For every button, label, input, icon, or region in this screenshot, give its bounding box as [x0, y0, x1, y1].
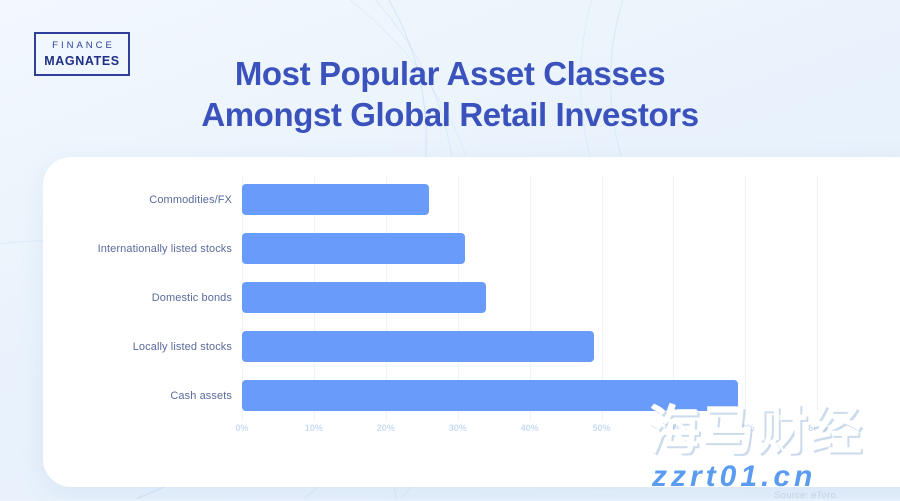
category-label: Domestic bonds	[152, 292, 232, 304]
category-label: Locally listed stocks	[133, 341, 232, 353]
bar-row: Commodities/FX	[242, 175, 882, 224]
x-tick-label: 30%	[449, 423, 467, 433]
category-label: Internationally listed stocks	[98, 243, 232, 255]
watermark-chinese: 海马财经	[648, 406, 864, 458]
page-title-line-2: Amongst Global Retail Investors	[0, 94, 900, 135]
bar[interactable]	[242, 331, 594, 362]
plot-area: Commodities/FXInternationally listed sto…	[242, 175, 882, 420]
category-label: Commodities/FX	[149, 194, 232, 206]
bar-row: Locally listed stocks	[242, 322, 882, 371]
x-tick-label: 40%	[521, 423, 539, 433]
bar-row: Domestic bonds	[242, 273, 882, 322]
bar[interactable]	[242, 184, 429, 215]
bar[interactable]	[242, 233, 465, 264]
watermark-url: zzrt01.cn	[652, 462, 816, 492]
x-tick-label: 0%	[235, 423, 248, 433]
bar[interactable]	[242, 282, 486, 313]
page-title-line-1: Most Popular Asset Classes	[235, 55, 665, 92]
bar-row: Internationally listed stocks	[242, 224, 882, 273]
page-title: Most Popular Asset Classes Amongst Globa…	[0, 53, 900, 135]
x-tick-label: 50%	[593, 423, 611, 433]
x-tick-label: 10%	[305, 423, 323, 433]
logo-line-finance: FINANCE	[49, 41, 115, 51]
category-label: Cash assets	[170, 390, 232, 402]
x-tick-label: 20%	[377, 423, 395, 433]
bar-rows: Commodities/FXInternationally listed sto…	[242, 175, 882, 420]
